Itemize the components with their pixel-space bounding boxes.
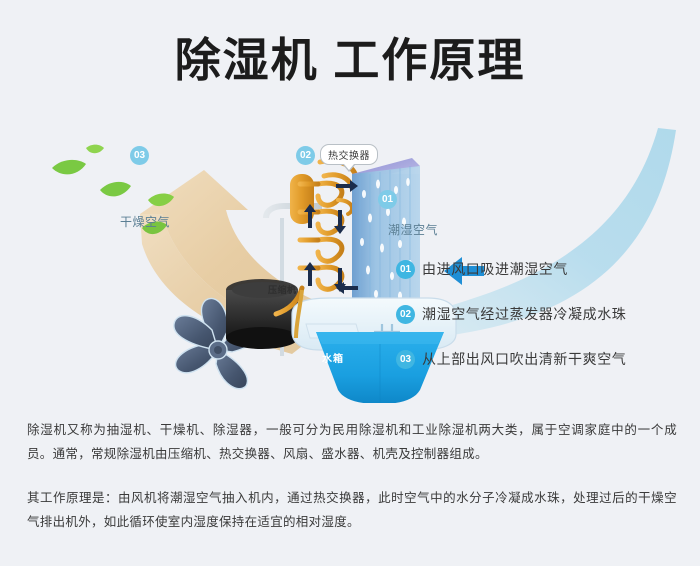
list-item: 02 潮湿空气经过蒸发器冷凝成水珠	[396, 303, 686, 325]
water-tank-label: 水箱	[322, 350, 344, 365]
page-title: 除湿机 工作原理	[175, 34, 526, 87]
step-badge-02: 02	[396, 305, 415, 324]
steps-list: 01 由进风口吸进潮湿空气 02 潮湿空气经过蒸发器冷凝成水珠 03 从上部出风…	[396, 258, 686, 393]
heat-exchanger-callout: 热交换器	[320, 144, 378, 165]
page-title-wrapper: 除湿机 工作原理	[0, 34, 700, 87]
diagram-badge-03: 03	[130, 146, 149, 165]
body-copy: 除湿机又称为抽湿机、干燥机、除湿器，一般可分为民用除湿机和工业除湿机两大类，属于…	[27, 418, 677, 534]
diagram-badge-01: 01	[378, 190, 397, 209]
step-text-03: 从上部出风口吹出清新干爽空气	[422, 349, 626, 369]
step-badge-01: 01	[396, 260, 415, 279]
infographic-page: 除湿机 工作原理	[0, 0, 700, 566]
body-paragraph-2: 其工作原理是：由风机将潮湿空气抽入机内，通过热交换器，此时空气中的水分子冷凝成水…	[27, 486, 677, 534]
diagram-badge-02: 02	[296, 146, 315, 165]
list-item: 01 由进风口吸进潮湿空气	[396, 258, 686, 280]
list-item: 03 从上部出风口吹出清新干爽空气	[396, 348, 686, 370]
humid-air-label: 潮湿空气	[388, 221, 438, 238]
body-paragraph-1: 除湿机又称为抽湿机、干燥机、除湿器，一般可分为民用除湿机和工业除湿机两大类，属于…	[27, 418, 677, 466]
step-text-01: 由进风口吸进潮湿空气	[422, 259, 568, 279]
step-text-02: 潮湿空气经过蒸发器冷凝成水珠	[422, 304, 626, 324]
step-badge-03: 03	[396, 350, 415, 369]
compressor-label: 压缩机	[268, 283, 297, 296]
dry-air-label: 干燥空气	[120, 213, 170, 230]
